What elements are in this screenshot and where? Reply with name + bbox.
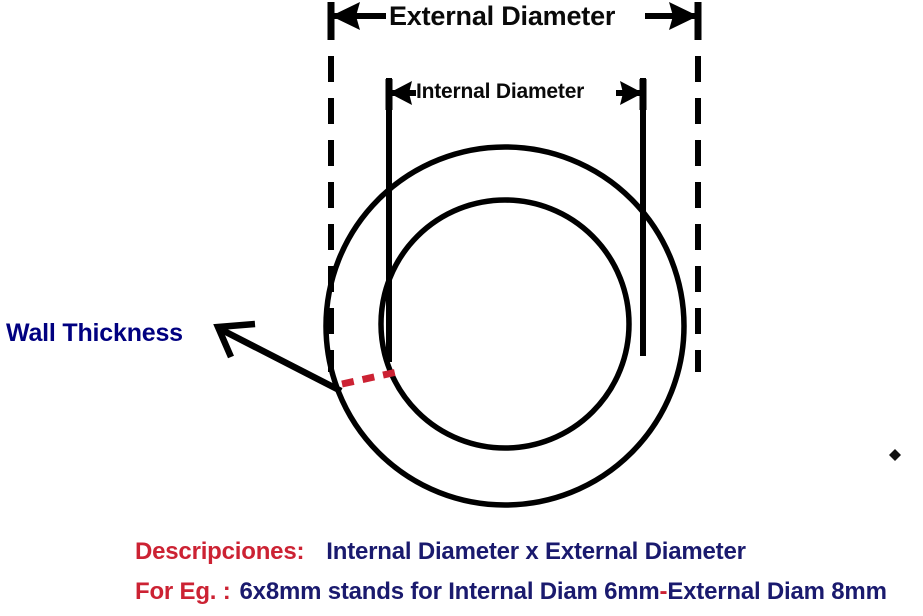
wall-thickness-leader-line [222,330,341,391]
for-eg-value-part1: 6x8mm stands for Internal Diam 6mm [240,578,660,605]
external-diameter-label: External Diameter [389,1,615,32]
internal-diameter-label: Internal Diameter [416,80,584,104]
external-arrowhead-left-icon [331,2,360,30]
descripciones-value: Internal Diameter x External Diameter [326,538,745,565]
external-arrowhead-right-icon [669,2,698,30]
diagram-canvas: External Diameter Internal Diameter Wall… [0,0,923,616]
for-eg-label: For Eg. : [135,578,231,605]
stray-dot-marker-icon [889,449,901,461]
wall-thickness-marker-dashed [342,372,397,384]
footer-description-line: Descripciones:Internal Diameter x Extern… [135,538,746,566]
descripciones-label: Descripciones: [135,538,304,565]
footer-example-line: For Eg. :6x8mm stands for Internal Diam … [135,578,887,606]
for-eg-value-part2: External Diam 8mm [667,578,886,605]
inner-circle-outline [381,200,629,448]
wall-thickness-label: Wall Thickness [6,319,183,348]
